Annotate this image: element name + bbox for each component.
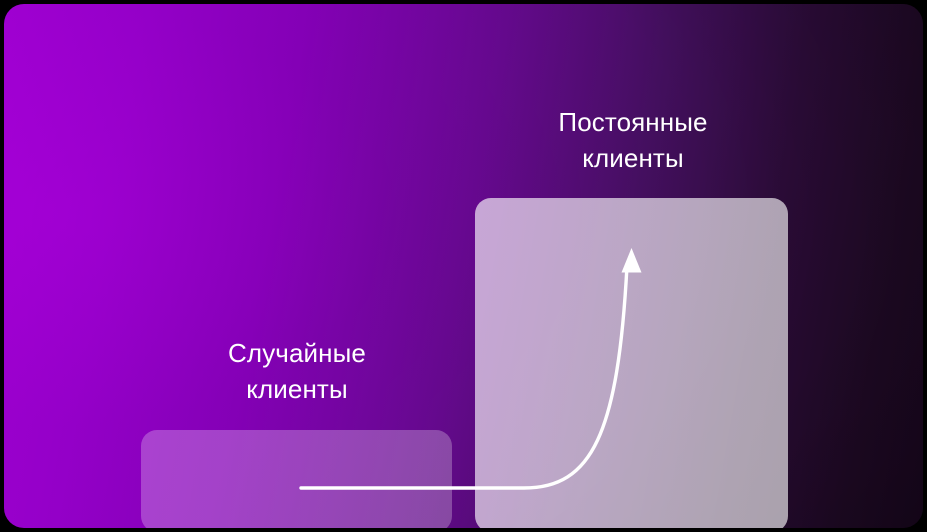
bar-casual-customers <box>141 430 452 528</box>
label-casual-customers: Случайные клиенты <box>177 335 417 407</box>
bar-loyal-customers <box>475 198 788 528</box>
illustration-card: Случайные клиенты Постоянные клиенты <box>4 4 923 528</box>
label-loyal-customers: Постоянные клиенты <box>513 104 753 176</box>
illustration-canvas: Случайные клиенты Постоянные клиенты <box>0 0 927 532</box>
